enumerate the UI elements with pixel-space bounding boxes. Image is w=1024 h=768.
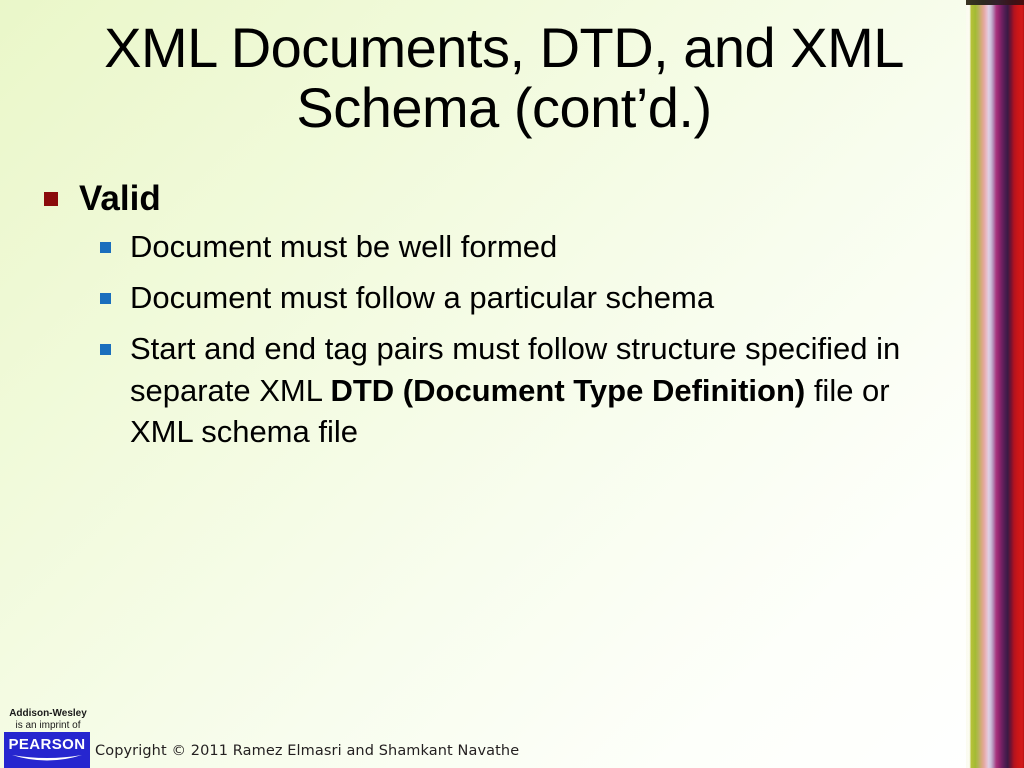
swoosh-icon bbox=[12, 754, 82, 763]
list-item-level2-label: Document must be well formed bbox=[130, 226, 557, 267]
page-title: XML Documents, DTD, and XML Schema (cont… bbox=[34, 18, 974, 139]
square-bullet-icon bbox=[100, 344, 111, 355]
square-bullet-icon bbox=[44, 192, 58, 206]
imprint-text: Addison-Wesley is an imprint of bbox=[6, 708, 90, 732]
list-item-level1: Valid bbox=[44, 178, 944, 220]
pearson-logo: PEARSON bbox=[4, 732, 90, 768]
copyright-text: Copyright © 2011 Ramez Elmasri and Shamk… bbox=[95, 743, 519, 759]
list-item-level2-label: Document must follow a particular schema bbox=[130, 277, 714, 318]
sub-bullet-list: Document must be well formed Document mu… bbox=[100, 226, 944, 452]
pearson-wordmark: PEARSON bbox=[9, 736, 86, 753]
list-item-level2: Start and end tag pairs must follow stru… bbox=[100, 328, 944, 452]
list-item-level2-label: Start and end tag pairs must follow stru… bbox=[130, 328, 920, 452]
imprint-subtext: is an imprint of bbox=[6, 720, 90, 732]
list-item-level2: Document must follow a particular schema bbox=[100, 277, 944, 318]
list-item-level2: Document must be well formed bbox=[100, 226, 944, 267]
imprint-brand: Addison-Wesley bbox=[6, 708, 90, 720]
slide: XML Documents, DTD, and XML Schema (cont… bbox=[0, 0, 1024, 768]
decorative-color-stripe bbox=[966, 0, 1024, 768]
bullet-list: Valid Document must be well formed Docum… bbox=[44, 178, 944, 462]
title-line-1: XML Documents, DTD, and XML bbox=[34, 18, 974, 78]
square-bullet-icon bbox=[100, 293, 111, 304]
title-line-2: Schema (cont’d.) bbox=[34, 78, 974, 138]
stripe-top-cap bbox=[966, 0, 1024, 5]
footer: Addison-Wesley is an imprint of PEARSON … bbox=[0, 688, 966, 768]
list-item-level1-label: Valid bbox=[79, 178, 161, 220]
square-bullet-icon bbox=[100, 242, 111, 253]
